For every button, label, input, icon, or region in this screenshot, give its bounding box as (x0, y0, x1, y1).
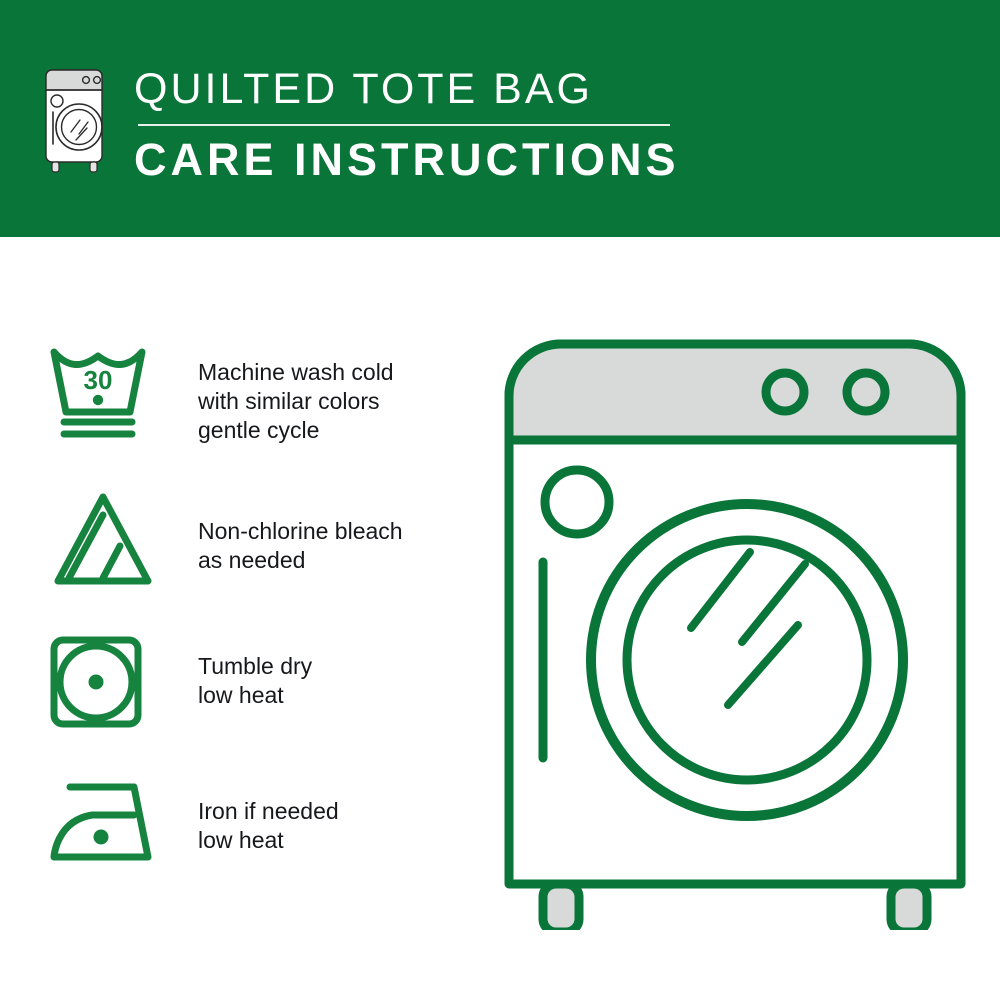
wash-temperature-value: 30 (84, 365, 113, 395)
care-label-line-1: Machine wash cold (198, 358, 394, 387)
care-item-bleach: Non-chlorine bleach as needed (48, 485, 478, 630)
tumble-dry-low-heat-icon (48, 630, 168, 730)
page-title: QUILTED TOTE BAG (134, 64, 680, 118)
care-item-label: Non-chlorine bleach as needed (168, 485, 403, 575)
page-subtitle: CARE INSTRUCTIONS (134, 134, 680, 186)
iron-low-heat-icon (48, 775, 168, 863)
care-instruction-list: 30 Machine wash cold with similar colors… (48, 340, 478, 920)
header-banner: QUILTED TOTE BAG CARE INSTRUCTIONS (0, 0, 1000, 237)
care-label-line-2: with similar colors (198, 387, 394, 416)
care-item-iron: Iron if needed low heat (48, 775, 478, 920)
header-content: QUILTED TOTE BAG CARE INSTRUCTIONS (42, 64, 680, 186)
care-label-line-3: gentle cycle (198, 416, 394, 445)
care-item-tumble-dry: Tumble dry low heat (48, 630, 478, 775)
care-item-label: Machine wash cold with similar colors ge… (168, 340, 394, 445)
care-item-label: Iron if needed low heat (168, 775, 339, 855)
control-panel (509, 344, 961, 440)
care-item-machine-wash: 30 Machine wash cold with similar colors… (48, 340, 478, 485)
non-chlorine-bleach-triangle-icon (48, 485, 168, 589)
care-label-line-1: Tumble dry (198, 652, 312, 681)
leg-left (543, 884, 579, 930)
care-label-line-2: as needed (198, 546, 403, 575)
care-label-line-1: Non-chlorine bleach (198, 517, 403, 546)
care-label-line-1: Iron if needed (198, 797, 339, 826)
care-item-label: Tumble dry low heat (168, 630, 312, 710)
front-load-washing-machine-illustration (495, 330, 975, 930)
care-label-line-2: low heat (198, 826, 339, 855)
care-instructions-infographic: QUILTED TOTE BAG CARE INSTRUCTIONS 30 (0, 0, 1000, 1000)
header-titles: QUILTED TOTE BAG CARE INSTRUCTIONS (134, 64, 680, 186)
care-label-line-2: low heat (198, 681, 312, 710)
washing-machine-icon (42, 64, 110, 176)
wash-tub-30-gentle-icon: 30 (48, 340, 168, 440)
title-divider (138, 124, 670, 126)
leg-right (891, 884, 927, 930)
